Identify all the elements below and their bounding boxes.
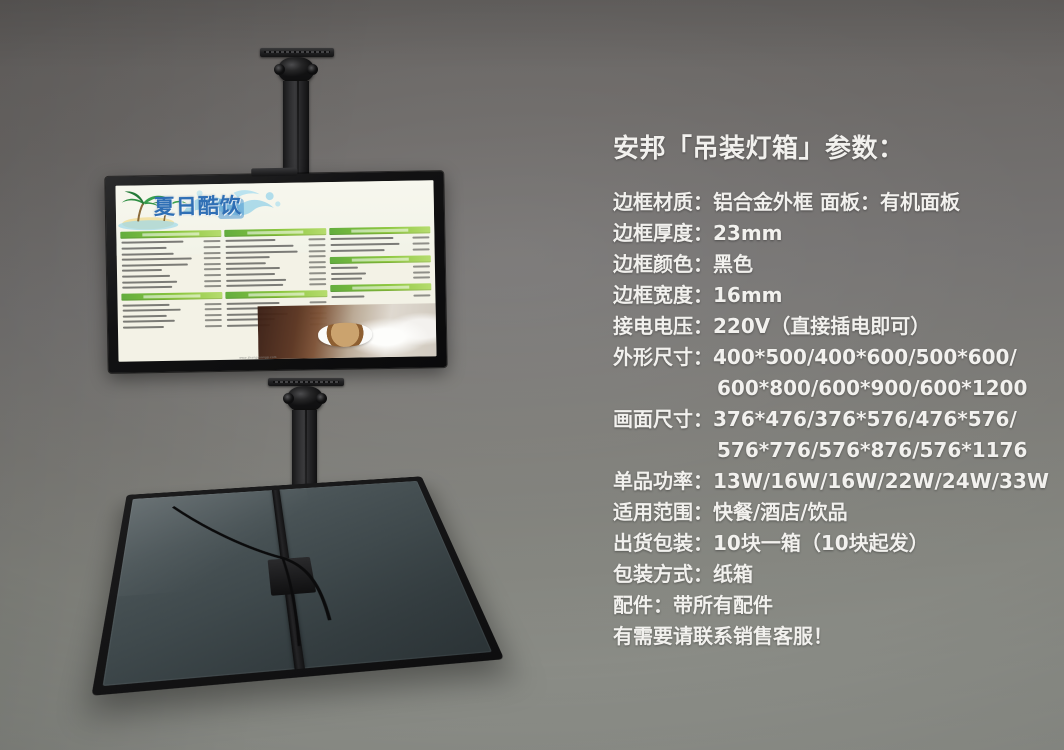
spec-line: 外形尺寸：400*500/400*600/500*600/ bbox=[613, 342, 1043, 373]
menu-row bbox=[123, 324, 222, 330]
menu-lightbox: 夏日酷饮 bbox=[105, 171, 446, 373]
category-rows bbox=[329, 233, 431, 253]
spec-line: 边框颜色：黑色 bbox=[613, 249, 1043, 280]
menu-category bbox=[330, 284, 432, 299]
menu-row bbox=[122, 284, 221, 290]
spec-line: 单品功率：13W/16W/16W/22W/24W/33W bbox=[613, 466, 1043, 497]
menu-board-face: 夏日酷饮 bbox=[115, 180, 436, 362]
category-rows bbox=[225, 235, 327, 288]
spec-line: 适用范围：快餐/酒店/饮品 bbox=[613, 497, 1043, 528]
lightbox-back-panel bbox=[124, 470, 438, 692]
watermark-text: www.zhongyuangg.com bbox=[239, 355, 276, 360]
spec-line: 包装方式：纸箱 bbox=[613, 559, 1043, 590]
spec-line: 画面尺寸：376*476/376*576/476*576/ bbox=[613, 404, 1043, 435]
menu-category bbox=[121, 292, 223, 330]
background-top-band bbox=[0, 0, 1064, 70]
ceiling-plate bbox=[260, 48, 334, 57]
spec-line-list: 边框材质：铝合金外框 面板：有机面板边框厚度：23mm边框颜色：黑色边框宽度：1… bbox=[613, 187, 1043, 652]
coffee-photo bbox=[258, 303, 437, 359]
spec-line: 边框宽度：16mm bbox=[613, 280, 1043, 311]
plate-screw-holes bbox=[273, 381, 340, 383]
pivot-nut-right bbox=[307, 64, 318, 75]
menu-column-left bbox=[120, 230, 224, 360]
back-panel-face bbox=[103, 481, 492, 686]
upper-ceiling-mount bbox=[252, 48, 344, 178]
menu-category bbox=[329, 226, 431, 253]
pivot-nut-left bbox=[274, 64, 285, 75]
spec-panel: 安邦「吊装灯箱」参数： 边框材质：铝合金外框 面板：有机面板边框厚度：23mm边… bbox=[613, 128, 1043, 652]
plate-screw-holes bbox=[264, 51, 329, 53]
menu-category bbox=[329, 255, 431, 282]
spec-line: 有需要请联系销售客服！ bbox=[613, 621, 1043, 652]
mount-bracket bbox=[268, 557, 317, 597]
spec-line: 600*800/600*900/600*1200 bbox=[613, 373, 1043, 404]
pivot-nut-right bbox=[316, 393, 327, 404]
menu-row bbox=[331, 276, 430, 282]
menu-title: 夏日酷饮 bbox=[154, 190, 243, 222]
category-rows bbox=[330, 291, 431, 299]
spec-title: 安邦「吊装灯箱」参数： bbox=[613, 128, 1043, 165]
menu-row bbox=[227, 282, 326, 288]
pole-seam bbox=[297, 81, 299, 178]
pivot-nut-left bbox=[283, 393, 294, 404]
menu-row bbox=[331, 293, 430, 299]
menu-category bbox=[120, 230, 222, 290]
spec-line: 边框材质：铝合金外框 面板：有机面板 bbox=[613, 187, 1043, 218]
spec-line: 出货包装：10块一箱（10块起发） bbox=[613, 528, 1043, 559]
category-rows bbox=[120, 237, 222, 290]
category-rows bbox=[330, 262, 432, 282]
menu-row bbox=[330, 247, 429, 253]
menu-title-text: 夏日酷饮 bbox=[154, 194, 242, 220]
menu-category bbox=[225, 228, 327, 288]
spec-line: 配件：带所有配件 bbox=[613, 590, 1043, 621]
spec-line: 边框厚度：23mm bbox=[613, 218, 1043, 249]
product-photo: 夏日酷饮 bbox=[0, 0, 1064, 750]
spec-line: 接电电压：220V（直接插电即可） bbox=[613, 311, 1043, 342]
lightbox-top-tab bbox=[251, 168, 297, 177]
spec-line: 576*776/576*876/576*1176 bbox=[613, 435, 1043, 466]
category-rows bbox=[121, 299, 223, 330]
telescoping-pole-upper bbox=[283, 81, 309, 178]
ceiling-plate bbox=[268, 378, 344, 386]
